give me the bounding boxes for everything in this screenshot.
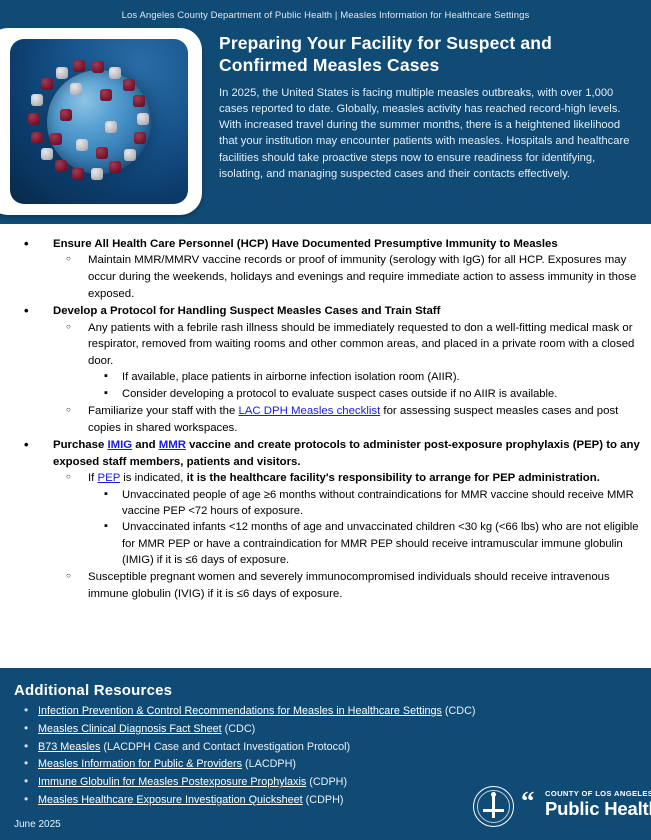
virus-spike-icon (31, 132, 43, 144)
seal-glyph-icon (492, 796, 495, 818)
virus-spike-icon (134, 132, 146, 144)
resource-link-1[interactable]: Measles Clinical Diagnosis Fact Sheet (38, 723, 222, 735)
county-seal-icon (473, 786, 514, 827)
item3-subsublist: Unvaccinated people of age ≥6 months wit… (88, 487, 651, 569)
item3-sub1-bold: it is the healthcare facility's responsi… (187, 472, 600, 484)
item1-heading: Ensure All Health Care Personnel (HCP) H… (53, 236, 651, 252)
item2-sub2-prefix: Familiarize your staff with the (88, 405, 238, 417)
resources-list: Infection Prevention & Control Recommend… (22, 706, 542, 813)
virus-spike-icon (60, 109, 72, 121)
item2-sublist: Any patients with a febrile rash illness… (53, 320, 651, 437)
mmr-link[interactable]: MMR (159, 439, 186, 451)
publication-date: June 2025 (14, 819, 61, 830)
virus-spike-icon (72, 168, 84, 180)
logo-top-line: COUNTY OF LOS ANGELES (545, 789, 651, 798)
item2-heading: Develop a Protocol for Handling Suspect … (53, 303, 651, 319)
virus-spike-icon (100, 89, 112, 101)
list-item: If available, place patients in airborne… (88, 369, 651, 385)
item2-subsublist: If available, place patients in airborne… (88, 369, 651, 402)
pep-link[interactable]: PEP (98, 472, 121, 484)
resource-link-4[interactable]: Immune Globulin for Measles Postexposure… (38, 776, 306, 788)
virus-spike-icon (124, 149, 136, 161)
item3-sub1a-text: Unvaccinated people of age ≥6 months wit… (122, 489, 634, 517)
virus-spike-icon (92, 61, 104, 73)
list-item: Consider developing a protocol to evalua… (88, 386, 651, 402)
virus-spike-icon (76, 139, 88, 151)
additional-resources-title: Additional Resources (14, 682, 172, 699)
item1-sub1-text: Maintain MMR/MMRV vaccine records or pro… (88, 254, 636, 299)
virus-spike-icon (41, 148, 53, 160)
virus-spike-icon (41, 78, 53, 90)
virus-spike-icon (70, 83, 82, 95)
item3-sub1-prefix: If (88, 472, 98, 484)
logo-bottom-line: Public Health (545, 799, 651, 818)
page-header: Los Angeles County Department of Public … (0, 0, 651, 224)
resource-item: B73 Measles (LACDPH Case and Contact Inv… (22, 742, 542, 753)
virus-spike-icon (105, 121, 117, 133)
item3-sub2-text: Susceptible pregnant women and severely … (88, 571, 610, 600)
list-item: Unvaccinated people of age ≥6 months wit… (88, 487, 651, 520)
resource-link-3[interactable]: Measles Information for Public & Provide… (38, 758, 242, 770)
resource-item: Infection Prevention & Control Recommend… (22, 706, 542, 717)
logo-wordmark: COUNTY OF LOS ANGELES Public Health (545, 789, 651, 818)
resource-source-1: (CDC) (222, 723, 256, 735)
virus-spike-icon (50, 133, 62, 145)
virus-spike-icon (109, 67, 121, 79)
virus-spike-icon (55, 160, 67, 172)
resource-item: Immune Globulin for Measles Postexposure… (22, 777, 542, 788)
page-footer: Additional Resources Infection Preventio… (0, 668, 651, 840)
virus-spike-icon (137, 113, 149, 125)
virus-spike-icon (96, 147, 108, 159)
item3-heading-mid: and (132, 439, 159, 451)
list-item: Unvaccinated infants <12 months of age a… (88, 519, 651, 568)
virus-spike-icon (133, 95, 145, 107)
lacdph-logo: “ COUNTY OF LOS ANGELES Public Health (473, 785, 639, 829)
virus-spike-icon (123, 79, 135, 91)
virus-spike-icon (109, 161, 121, 173)
list-item: If PEP is indicated, it is the healthcar… (53, 470, 651, 568)
resource-item: Measles Healthcare Exposure Investigatio… (22, 795, 542, 806)
recommendations-list: Ensure All Health Care Personnel (HCP) H… (0, 236, 651, 603)
page-intro-paragraph: In 2025, the United States is facing mul… (219, 85, 639, 182)
public-health-mark-icon: “ (521, 788, 535, 815)
list-item: Purchase IMIG and MMR vaccine and create… (0, 437, 651, 602)
resource-link-2[interactable]: B73 Measles (38, 741, 100, 753)
resource-source-3: (LACDPH) (242, 758, 296, 770)
resource-link-5[interactable]: Measles Healthcare Exposure Investigatio… (38, 794, 303, 806)
resource-source-2: (LACDPH Case and Contact Investigation P… (100, 741, 350, 753)
item3-heading-prefix: Purchase (53, 439, 107, 451)
header-eyebrow: Los Angeles County Department of Public … (0, 10, 651, 21)
item2-sub1-text: Any patients with a febrile rash illness… (88, 322, 634, 367)
resource-source-0: (CDC) (442, 705, 476, 717)
list-item: Susceptible pregnant women and severely … (53, 569, 651, 602)
resource-link-0[interactable]: Infection Prevention & Control Recommend… (38, 705, 442, 717)
main-content: Ensure All Health Care Personnel (HCP) H… (0, 224, 651, 665)
virus-spike-icon (31, 94, 43, 106)
virus-spike-icon (56, 67, 68, 79)
hero-text-block: Preparing Your Facility for Suspect and … (219, 32, 639, 182)
list-item: Ensure All Health Care Personnel (HCP) H… (0, 236, 651, 302)
virus-spike-icon (91, 168, 103, 180)
item1-sublist: Maintain MMR/MMRV vaccine records or pro… (53, 252, 651, 302)
item2-sub1b-text: Consider developing a protocol to evalua… (122, 388, 557, 400)
imig-link[interactable]: IMIG (107, 439, 132, 451)
list-item: Develop a Protocol for Handling Suspect … (0, 303, 651, 436)
item3-sub1b-text: Unvaccinated infants <12 months of age a… (122, 521, 639, 566)
measles-virus-image (10, 39, 188, 204)
hero-image-frame (0, 28, 202, 215)
page-title: Preparing Your Facility for Suspect and … (219, 32, 639, 76)
list-item: Maintain MMR/MMRV vaccine records or pro… (53, 252, 651, 302)
resource-source-5: (CDPH) (303, 794, 344, 806)
item3-sublist: If PEP is indicated, it is the healthcar… (53, 470, 651, 603)
virus-spike-icon (28, 113, 40, 125)
item2-sub1a-text: If available, place patients in airborne… (122, 371, 460, 383)
resource-item: Measles Information for Public & Provide… (22, 759, 542, 770)
item3-heading: Purchase IMIG and MMR vaccine and create… (53, 437, 651, 470)
list-item: Familiarize your staff with the LAC DPH … (53, 403, 651, 436)
resource-item: Measles Clinical Diagnosis Fact Sheet (C… (22, 724, 542, 735)
lac-dph-measles-checklist-link[interactable]: LAC DPH Measles checklist (238, 405, 380, 417)
virus-spike-icon (73, 60, 85, 72)
resource-source-4: (CDPH) (306, 776, 347, 788)
item3-sub1-mid: is indicated, (120, 472, 186, 484)
list-item: Any patients with a febrile rash illness… (53, 320, 651, 403)
